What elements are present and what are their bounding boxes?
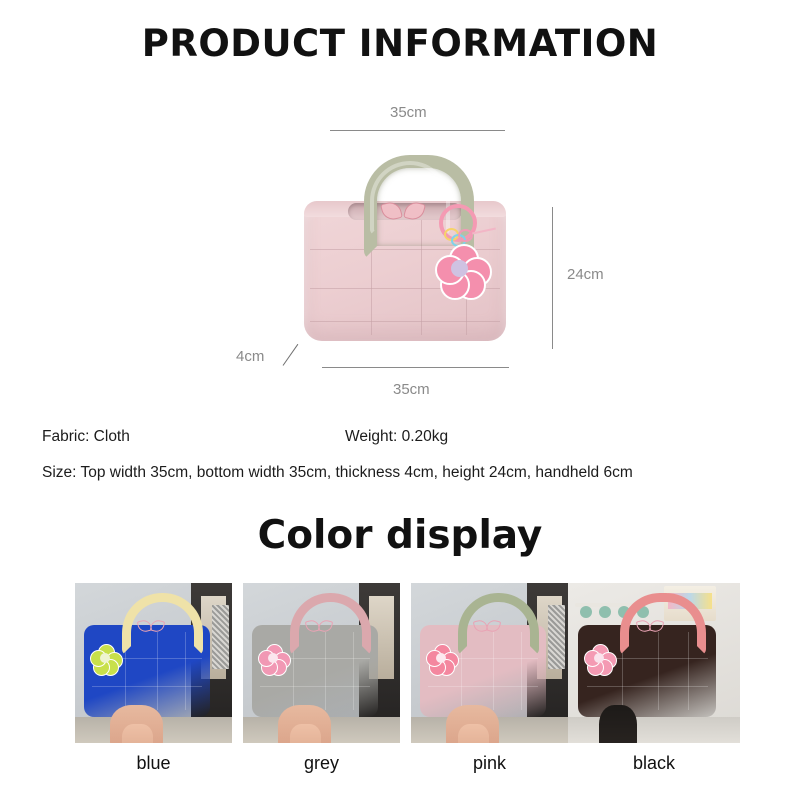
color-swatch-gallery — [0, 583, 800, 743]
dimension-label-top-width: 35cm — [390, 104, 427, 121]
color-tile-grey[interactable] — [243, 583, 400, 743]
flower-center — [451, 260, 468, 277]
spec-weight: Weight: 0.20kg — [345, 428, 448, 446]
color-tile-black[interactable] — [568, 583, 740, 743]
flower-charm-grey — [259, 644, 289, 673]
flower-charm-pink — [427, 644, 457, 673]
dimension-label-bottom-width: 35cm — [393, 381, 430, 398]
spec-fabric: Fabric: Cloth — [42, 428, 130, 446]
dimension-label-height: 24cm — [567, 266, 604, 283]
bow-black — [637, 618, 663, 631]
bow-detail — [382, 198, 424, 220]
color-tile-pink[interactable] — [411, 583, 568, 743]
dimension-line-top — [330, 130, 505, 131]
bow-pink — [474, 618, 500, 631]
product-hero-image — [296, 152, 514, 357]
dimension-label-thickness: 4cm — [236, 348, 264, 365]
color-label-black: black — [568, 753, 740, 774]
flower-charm-blue — [91, 644, 121, 673]
page-title: PRODUCT INFORMATION — [0, 22, 800, 65]
bow-blue — [138, 618, 164, 631]
color-label-pink: pink — [411, 753, 568, 774]
bow-grey — [306, 618, 332, 631]
product-information-page: PRODUCT INFORMATION — [0, 0, 800, 800]
spec-size: Size: Top width 35cm, bottom width 35cm,… — [42, 464, 633, 482]
color-tile-blue[interactable] — [75, 583, 232, 743]
color-label-grey: grey — [243, 753, 400, 774]
color-display-heading: Color display — [0, 513, 800, 558]
flower-charm — [436, 244, 488, 294]
dimension-line-height — [552, 207, 553, 349]
flower-charm-black — [585, 644, 615, 673]
dimension-line-bottom — [322, 367, 509, 368]
color-label-blue: blue — [75, 753, 232, 774]
